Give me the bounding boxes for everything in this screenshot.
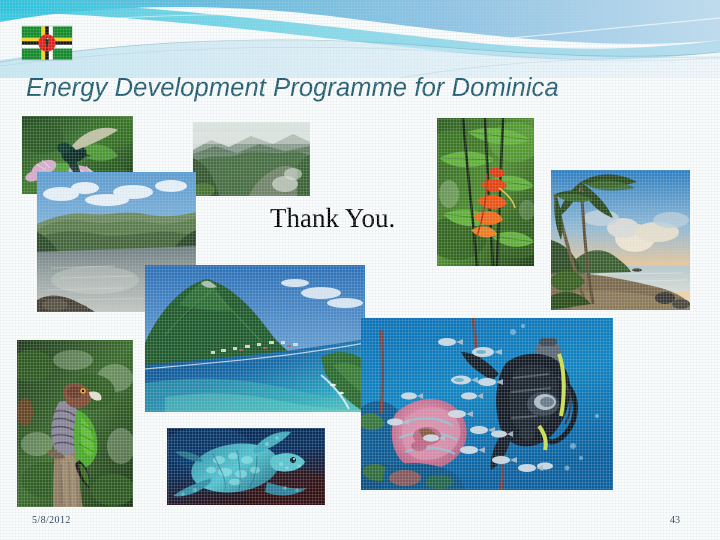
- flag-of-dominica-icon: [22, 26, 72, 60]
- thank-you-text: Thank You.: [270, 203, 395, 234]
- image-palm-beach: [551, 170, 690, 310]
- image-turtle: [167, 428, 325, 505]
- header-wave-decoration: [0, 0, 720, 78]
- image-heliconia: [437, 118, 534, 266]
- image-parrot: [17, 340, 133, 507]
- image-valley: [193, 122, 310, 196]
- image-coast-aerial: [145, 265, 365, 412]
- footer-date: 5/8/2012: [32, 515, 71, 526]
- slide-canvas: Energy Development Programme for Dominic…: [0, 0, 720, 540]
- page-title: Energy Development Programme for Dominic…: [26, 74, 559, 103]
- footer-page-number: 43: [670, 515, 680, 526]
- image-diver: [361, 318, 613, 490]
